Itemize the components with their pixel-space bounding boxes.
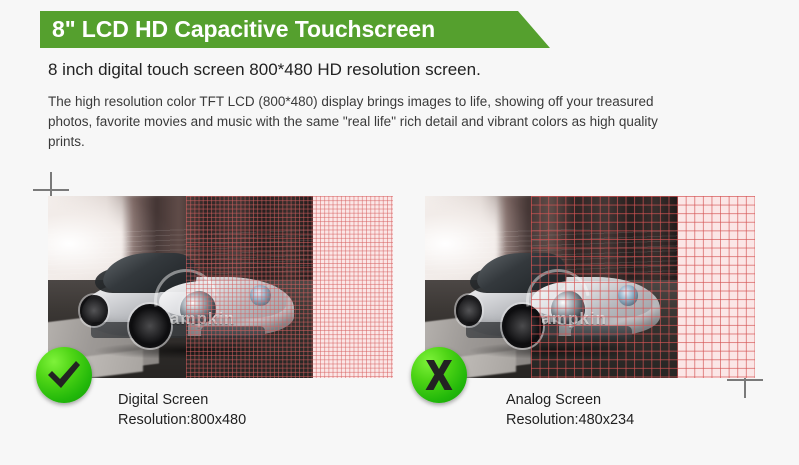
- x-badge: [411, 347, 467, 403]
- car-headlight-far: [618, 285, 638, 305]
- photo-car: [82, 251, 294, 353]
- intro-headline: 8 inch digital touch screen 800*480 HD r…: [48, 60, 481, 80]
- car-wheel-front: [502, 304, 542, 349]
- car-grille: [571, 326, 632, 340]
- car-headlight-near: [551, 291, 585, 324]
- caption-digital-resolution: Resolution:800x480: [118, 410, 246, 430]
- car-photo-analog: ampkin: [425, 196, 678, 378]
- check-icon: [46, 360, 82, 390]
- pink-bleed-area-analog: [678, 196, 755, 378]
- photo-scene: [425, 196, 678, 378]
- banner-title: 8" LCD HD Capacitive Touchscreen: [52, 11, 435, 48]
- comparison-panel-analog: ampkin: [425, 196, 755, 378]
- car-headlight-near: [180, 291, 216, 324]
- comparison-panel-digital: ampkin: [48, 196, 393, 378]
- caption-analog-title: Analog Screen: [506, 390, 634, 410]
- x-icon: [423, 359, 455, 391]
- car-wheel-rear: [456, 295, 482, 326]
- caption-digital-title: Digital Screen: [118, 390, 246, 410]
- car-shadow: [95, 342, 277, 358]
- header-banner: 8" LCD HD Capacitive Touchscreen: [40, 11, 550, 48]
- caption-analog: Analog Screen Resolution:480x234: [506, 390, 634, 430]
- pink-bleed-area-digital: [313, 196, 393, 378]
- caption-digital: Digital Screen Resolution:800x480: [118, 390, 246, 430]
- intro-paragraph: The high resolution color TFT LCD (800*4…: [48, 92, 698, 152]
- photo-scene: [48, 196, 313, 378]
- caption-analog-resolution: Resolution:480x234: [506, 410, 634, 430]
- car-photo-digital: ampkin: [48, 196, 313, 378]
- check-badge: [36, 347, 92, 403]
- car-wheel-rear: [80, 295, 108, 326]
- car-shadow: [470, 342, 644, 358]
- car-grille: [201, 326, 265, 340]
- car-headlight-far: [250, 285, 271, 305]
- photo-car: [458, 251, 660, 353]
